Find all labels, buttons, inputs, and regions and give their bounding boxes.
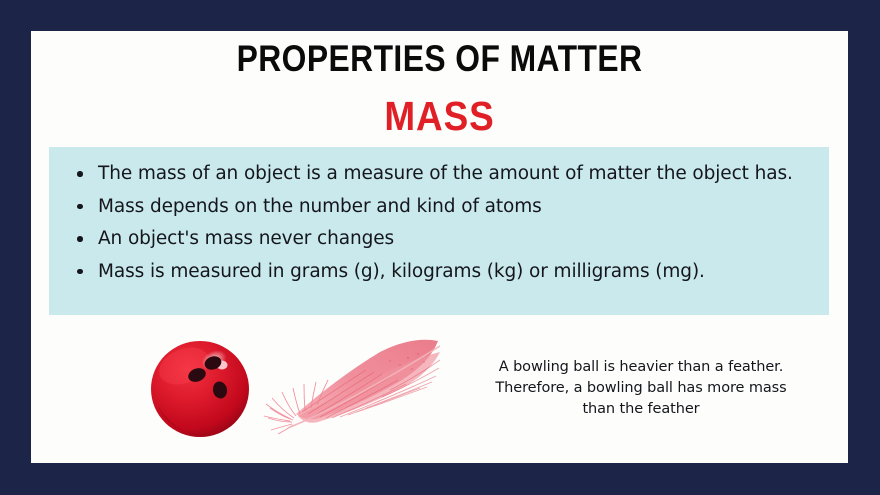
bullet-list: The mass of an object is a measure of th… xyxy=(65,158,815,287)
page-subtitle: MASS xyxy=(72,93,807,139)
page-title: PROPERTIES OF MATTER xyxy=(88,39,791,79)
feather-icon xyxy=(262,332,452,436)
caption-line: A bowling ball is heavier than a feather… xyxy=(456,357,826,378)
list-item: An object's mass never changes xyxy=(65,223,815,255)
bowling-ball-icon xyxy=(148,338,252,439)
bullet-panel: The mass of an object is a measure of th… xyxy=(49,147,829,315)
slide-canvas: PROPERTIES OF MATTER MASS The mass of an… xyxy=(0,0,880,495)
list-item: The mass of an object is a measure of th… xyxy=(65,158,815,190)
caption-line: Therefore, a bowling ball has more mass xyxy=(456,378,826,399)
slide-card: PROPERTIES OF MATTER MASS The mass of an… xyxy=(31,31,848,463)
list-item: Mass depends on the number and kind of a… xyxy=(65,191,815,223)
illustration-caption: A bowling ball is heavier than a feather… xyxy=(456,357,826,420)
caption-line: than the feather xyxy=(456,399,826,420)
list-item: Mass is measured in grams (g), kilograms… xyxy=(65,256,815,288)
